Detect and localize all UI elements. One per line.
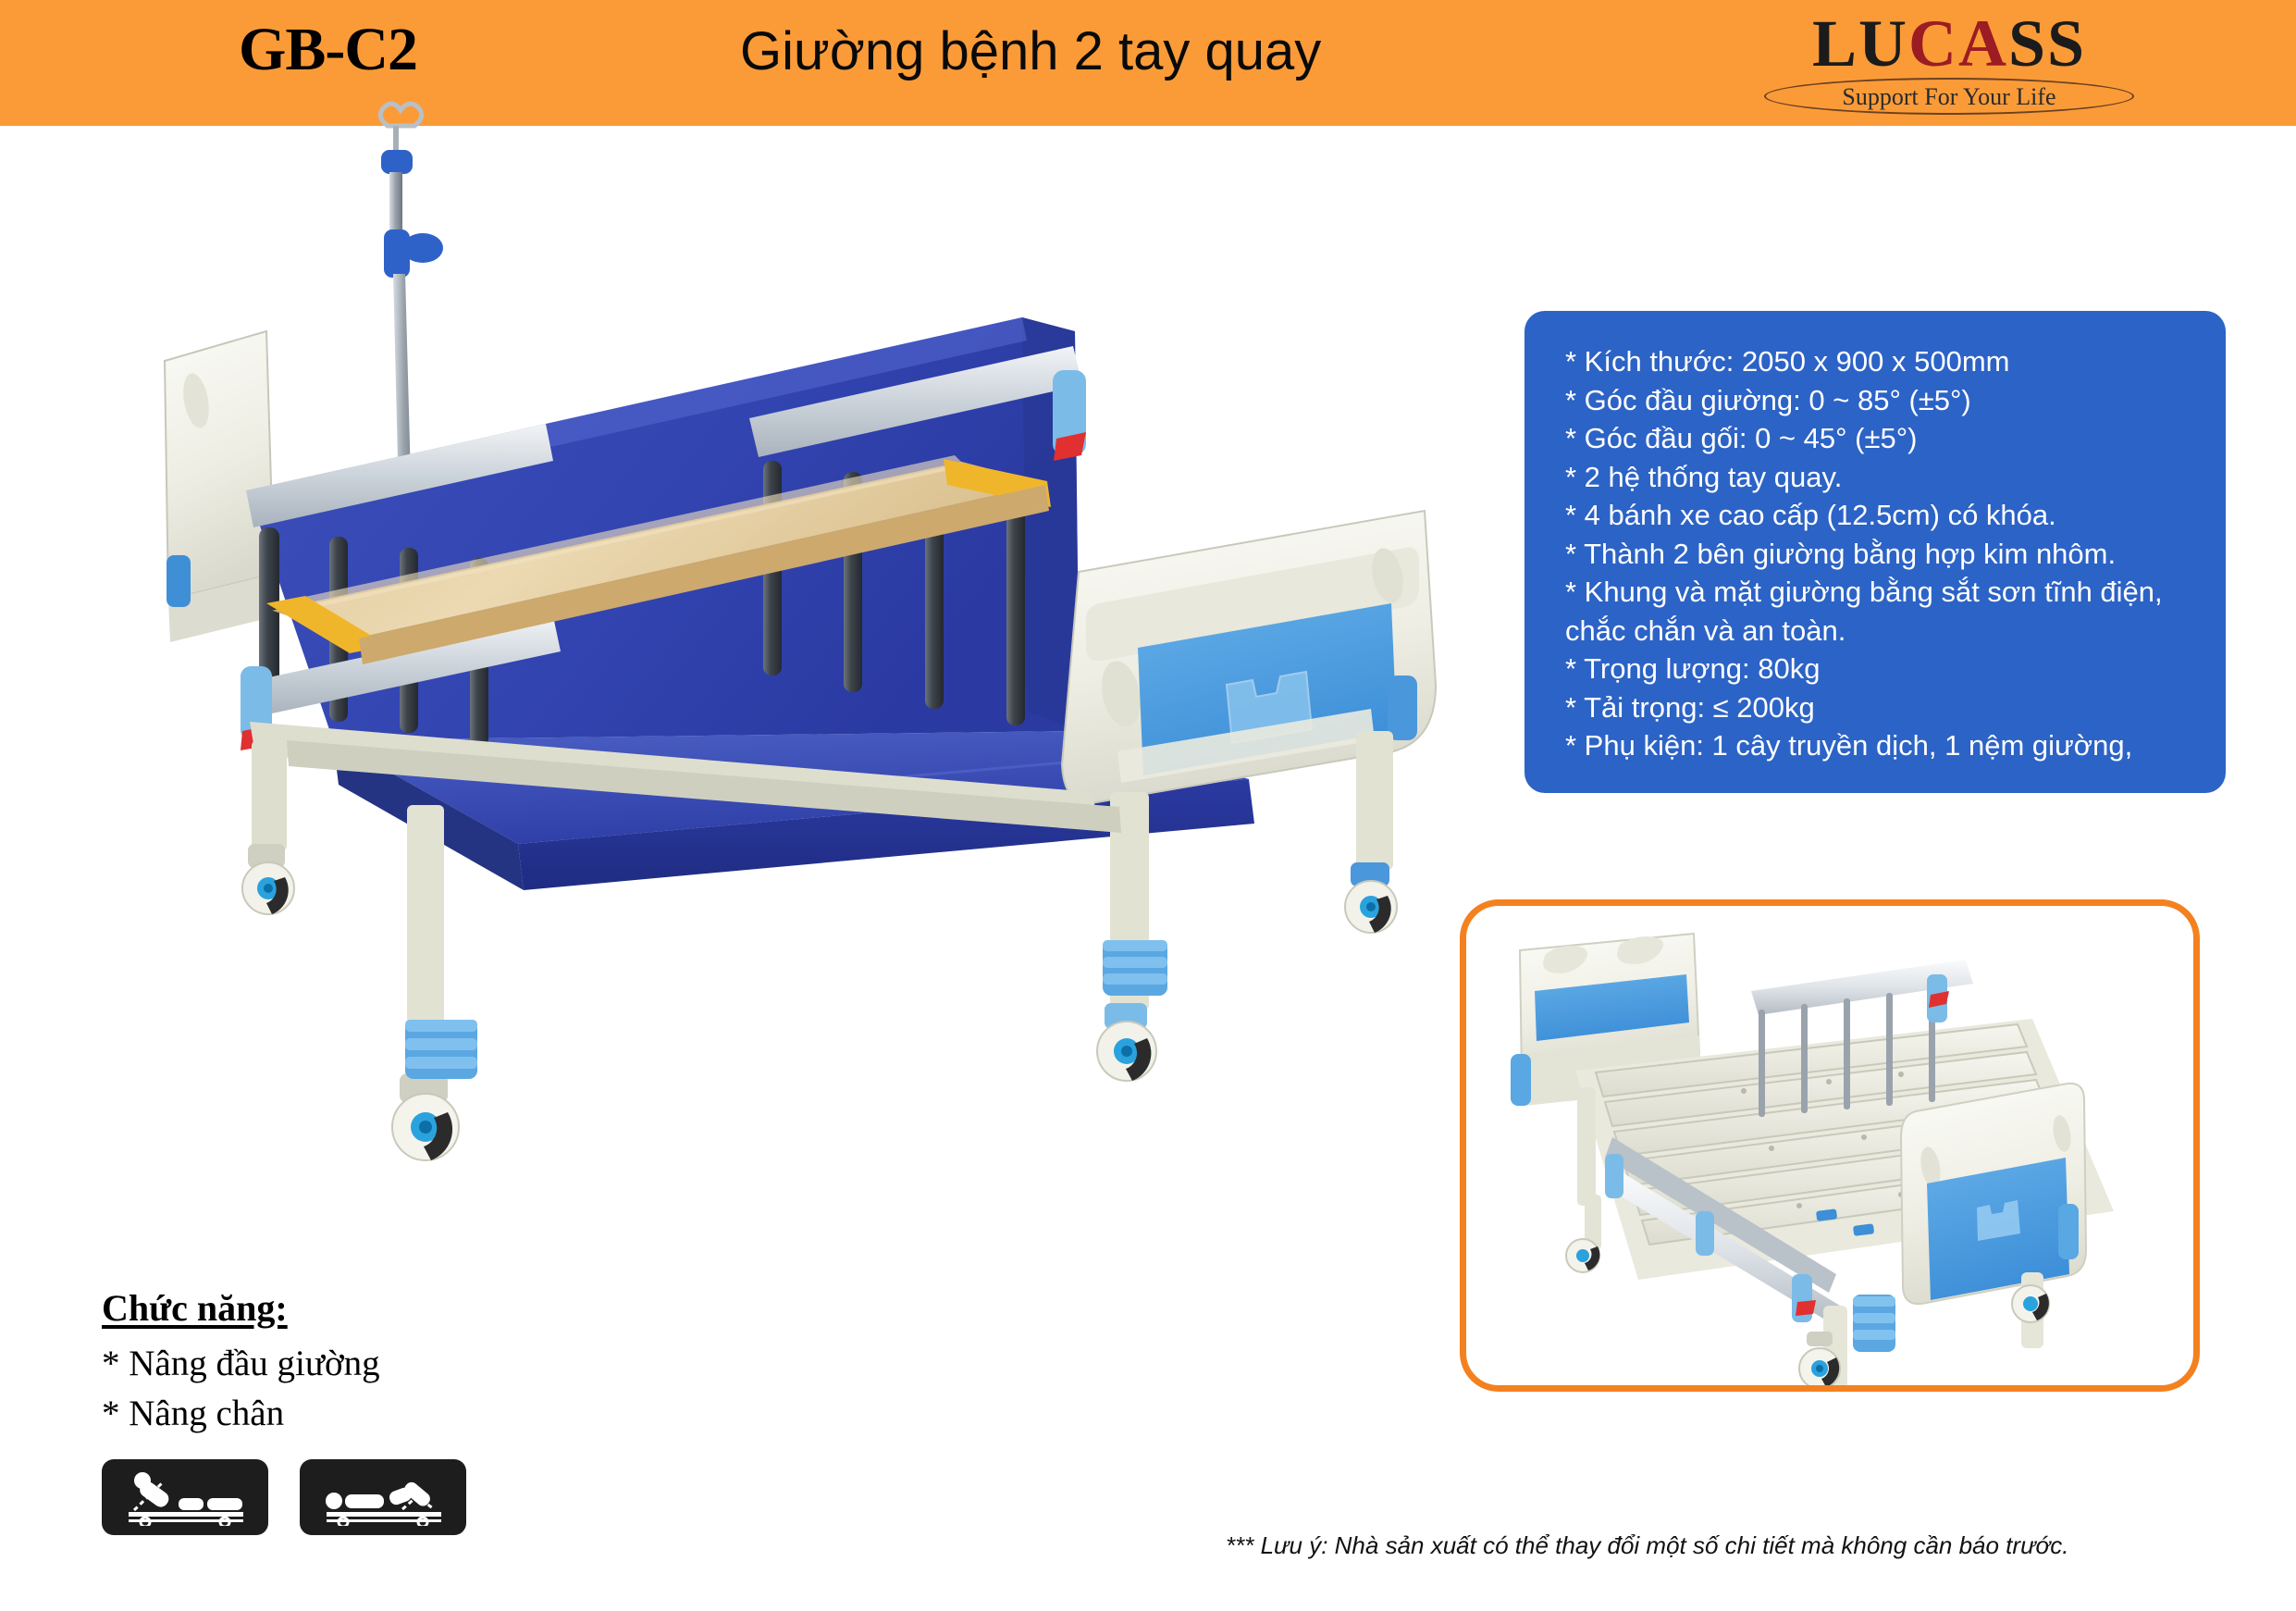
spec-line: * 4 bánh xe cao cấp (12.5cm) có khóa. (1565, 496, 2194, 535)
bed-backrest-raised-icon (102, 1459, 268, 1535)
brand-logo-part1: LU (1812, 6, 1908, 81)
function-item: * Nâng chân (102, 1389, 620, 1439)
corner-bumpers (405, 940, 1167, 1079)
spec-line: * Thành 2 bên giường bằng hợp kim nhôm. (1565, 535, 2194, 574)
inset-bumper (1853, 1295, 1895, 1352)
secondary-product-photo (1466, 906, 2193, 1385)
model-code: GB-C2 (239, 15, 417, 85)
specification-panel: * Kích thước: 2050 x 900 x 500mm * Góc đ… (1524, 311, 2226, 793)
spec-line: * Tải trọng: ≤ 200kg (1565, 688, 2194, 727)
spec-line: * Góc đầu giường: 0 ~ 85° (±5°) (1565, 381, 2194, 420)
function-item: * Nâng đầu giường (102, 1339, 620, 1389)
brand-logo-part3: SS (2008, 6, 2086, 81)
functions-section: Chức năng: * Nâng đầu giường * Nâng chân (102, 1286, 620, 1535)
secondary-product-photo-frame (1460, 899, 2200, 1392)
function-icon-row (102, 1459, 620, 1535)
brand-logo-part2: CA (1908, 6, 2008, 81)
spec-line: * Trọng lượng: 80kg (1565, 650, 2194, 688)
spec-line: * Phụ kiện: 1 cây truyền dịch, 1 nệm giư… (1565, 726, 2194, 765)
functions-title: Chức năng: (102, 1286, 288, 1330)
disclaimer-note: *** Lưu ý: Nhà sản xuất có thể thay đổi … (1226, 1531, 2069, 1560)
main-product-photo (111, 93, 1499, 1194)
page-title: Giường bệnh 2 tay quay (740, 20, 1321, 82)
spec-line: * Góc đầu gối: 0 ~ 45° (±5°) (1565, 419, 2194, 458)
brand-wordmark: LUCASS (1755, 7, 2143, 80)
bed-legrest-raised-icon (300, 1459, 466, 1535)
product-spec-sheet: GB-C2 Giường bệnh 2 tay quay LUCASS Supp… (0, 0, 2296, 1611)
brand-tagline: Support For Your Life (1755, 83, 2143, 111)
inset-footboard (1901, 1084, 2086, 1304)
spec-line: * Kích thước: 2050 x 900 x 500mm (1565, 342, 2194, 381)
spec-line: * 2 hệ thống tay quay. (1565, 458, 2194, 497)
brand-logo: LUCASS Support For Your Life (1755, 7, 2143, 118)
spec-line: * Khung và mặt giường bằng sắt sơn tĩnh … (1565, 573, 2194, 650)
